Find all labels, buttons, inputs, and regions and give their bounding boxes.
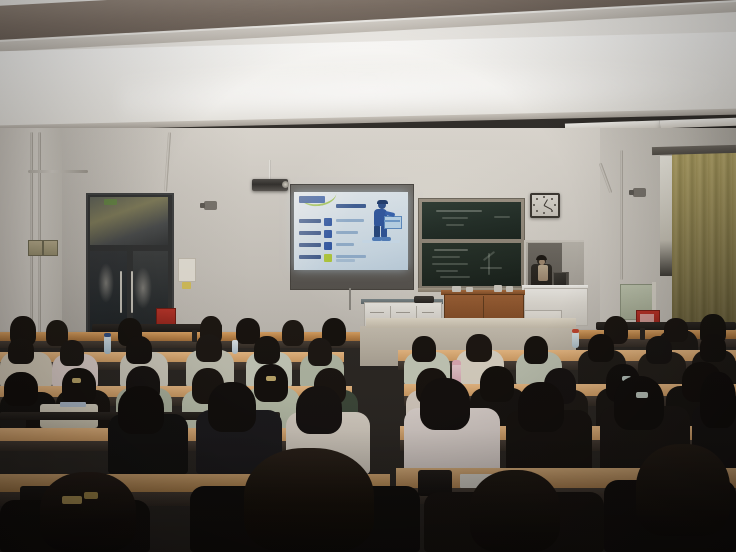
clock-face — [532, 195, 558, 216]
desk-item — [452, 286, 461, 292]
student-head — [118, 386, 164, 434]
conduit-pipe — [620, 150, 623, 280]
projection-screen — [294, 192, 408, 270]
conduit-pipe — [38, 210, 41, 340]
cabinet-handle[interactable] — [422, 312, 434, 313]
door-handle[interactable] — [120, 271, 122, 313]
silhouette-through-glass — [98, 263, 114, 303]
student-head — [466, 334, 492, 362]
presenter-hair — [536, 255, 547, 260]
student-head — [480, 366, 514, 402]
student-head — [60, 340, 84, 366]
student-head — [700, 372, 736, 428]
water-bottle — [232, 340, 238, 354]
student-head — [588, 334, 614, 362]
student-head — [524, 336, 548, 364]
exit-sign-icon — [104, 199, 117, 205]
fire-cabinet-glass — [640, 314, 654, 322]
student-head — [62, 368, 96, 404]
clock-minute-hand — [544, 205, 552, 210]
student-head — [196, 334, 222, 362]
student-head — [308, 338, 332, 366]
bottle-cap — [104, 333, 111, 337]
student-head — [420, 378, 470, 430]
bottle-cap — [452, 360, 461, 365]
student-head — [40, 472, 136, 552]
student-head — [614, 376, 664, 430]
student-head — [4, 372, 38, 406]
silhouette-through-glass — [134, 267, 152, 309]
student-head — [126, 336, 152, 364]
desk-row — [0, 352, 344, 362]
student-head — [254, 364, 288, 402]
student-head — [8, 338, 34, 364]
illustration-package-band — [384, 220, 400, 222]
projector-lens-icon — [282, 181, 289, 188]
wall-clock — [530, 193, 560, 218]
conduit-pipe — [28, 170, 88, 173]
student-head — [282, 320, 304, 346]
water-bottle — [572, 332, 579, 348]
hair-clip — [62, 496, 82, 504]
student-head — [412, 336, 436, 362]
slide-logo — [299, 196, 325, 203]
hair-clip — [266, 376, 276, 381]
window — [660, 156, 672, 276]
hair-clip — [636, 392, 648, 398]
student-head — [636, 444, 730, 536]
slide-row-label — [299, 243, 321, 247]
student-head — [296, 386, 342, 434]
bag-label — [60, 402, 86, 407]
slide-row-icon — [324, 254, 332, 262]
wall-notice-sticker — [182, 282, 191, 289]
slide-row-icon — [324, 242, 332, 250]
slide-row-body — [336, 231, 358, 234]
lecture-hall-scene — [0, 0, 736, 552]
slide-row-label — [299, 231, 321, 235]
door-handle[interactable] — [131, 271, 133, 313]
student-head — [470, 470, 560, 552]
bottle-cap — [572, 329, 579, 333]
door-transom-glass — [90, 197, 168, 245]
illustration-shoe — [381, 237, 391, 241]
desk-equipment — [414, 296, 434, 303]
slide-row-icon — [324, 218, 332, 226]
presenter-scarf — [538, 265, 548, 281]
wall-notice — [178, 258, 196, 282]
student-head — [254, 336, 280, 364]
hair-clip — [72, 378, 81, 383]
chalkboard-panel-lower — [422, 243, 521, 286]
illustration-cap — [377, 200, 388, 204]
chalkboard — [418, 198, 525, 292]
slide-row-label — [299, 219, 321, 223]
chalkboard-panel-upper — [422, 202, 521, 239]
water-bottle — [104, 336, 111, 354]
student-head — [518, 382, 564, 432]
electrical-box — [28, 240, 43, 256]
slide-row-body-second-line — [336, 259, 355, 262]
slide-illustration — [360, 199, 400, 249]
curtain-shading — [672, 152, 736, 342]
slide-row-body — [336, 255, 366, 258]
desk-item — [466, 287, 473, 292]
bench-leg — [640, 328, 645, 340]
student-head — [208, 382, 256, 432]
cabinet-handle[interactable] — [396, 312, 410, 313]
aisle-step — [366, 318, 576, 328]
projector-mount — [268, 160, 271, 180]
student-head — [244, 448, 374, 552]
cabinet-handle[interactable] — [370, 312, 384, 313]
student-head — [700, 334, 726, 362]
slide-row-body — [336, 243, 354, 246]
slide-row-label — [299, 255, 321, 259]
camera-icon — [633, 188, 646, 197]
desk-item — [494, 285, 502, 292]
desk-item — [506, 286, 513, 292]
screen-support — [349, 288, 351, 310]
student-head — [646, 336, 672, 364]
slide-row-icon — [324, 230, 332, 238]
camera-icon — [204, 201, 217, 210]
light-fixture — [660, 118, 736, 129]
electrical-box — [43, 240, 58, 256]
hair-clip — [84, 492, 98, 499]
illustration-package-icon — [384, 216, 402, 229]
